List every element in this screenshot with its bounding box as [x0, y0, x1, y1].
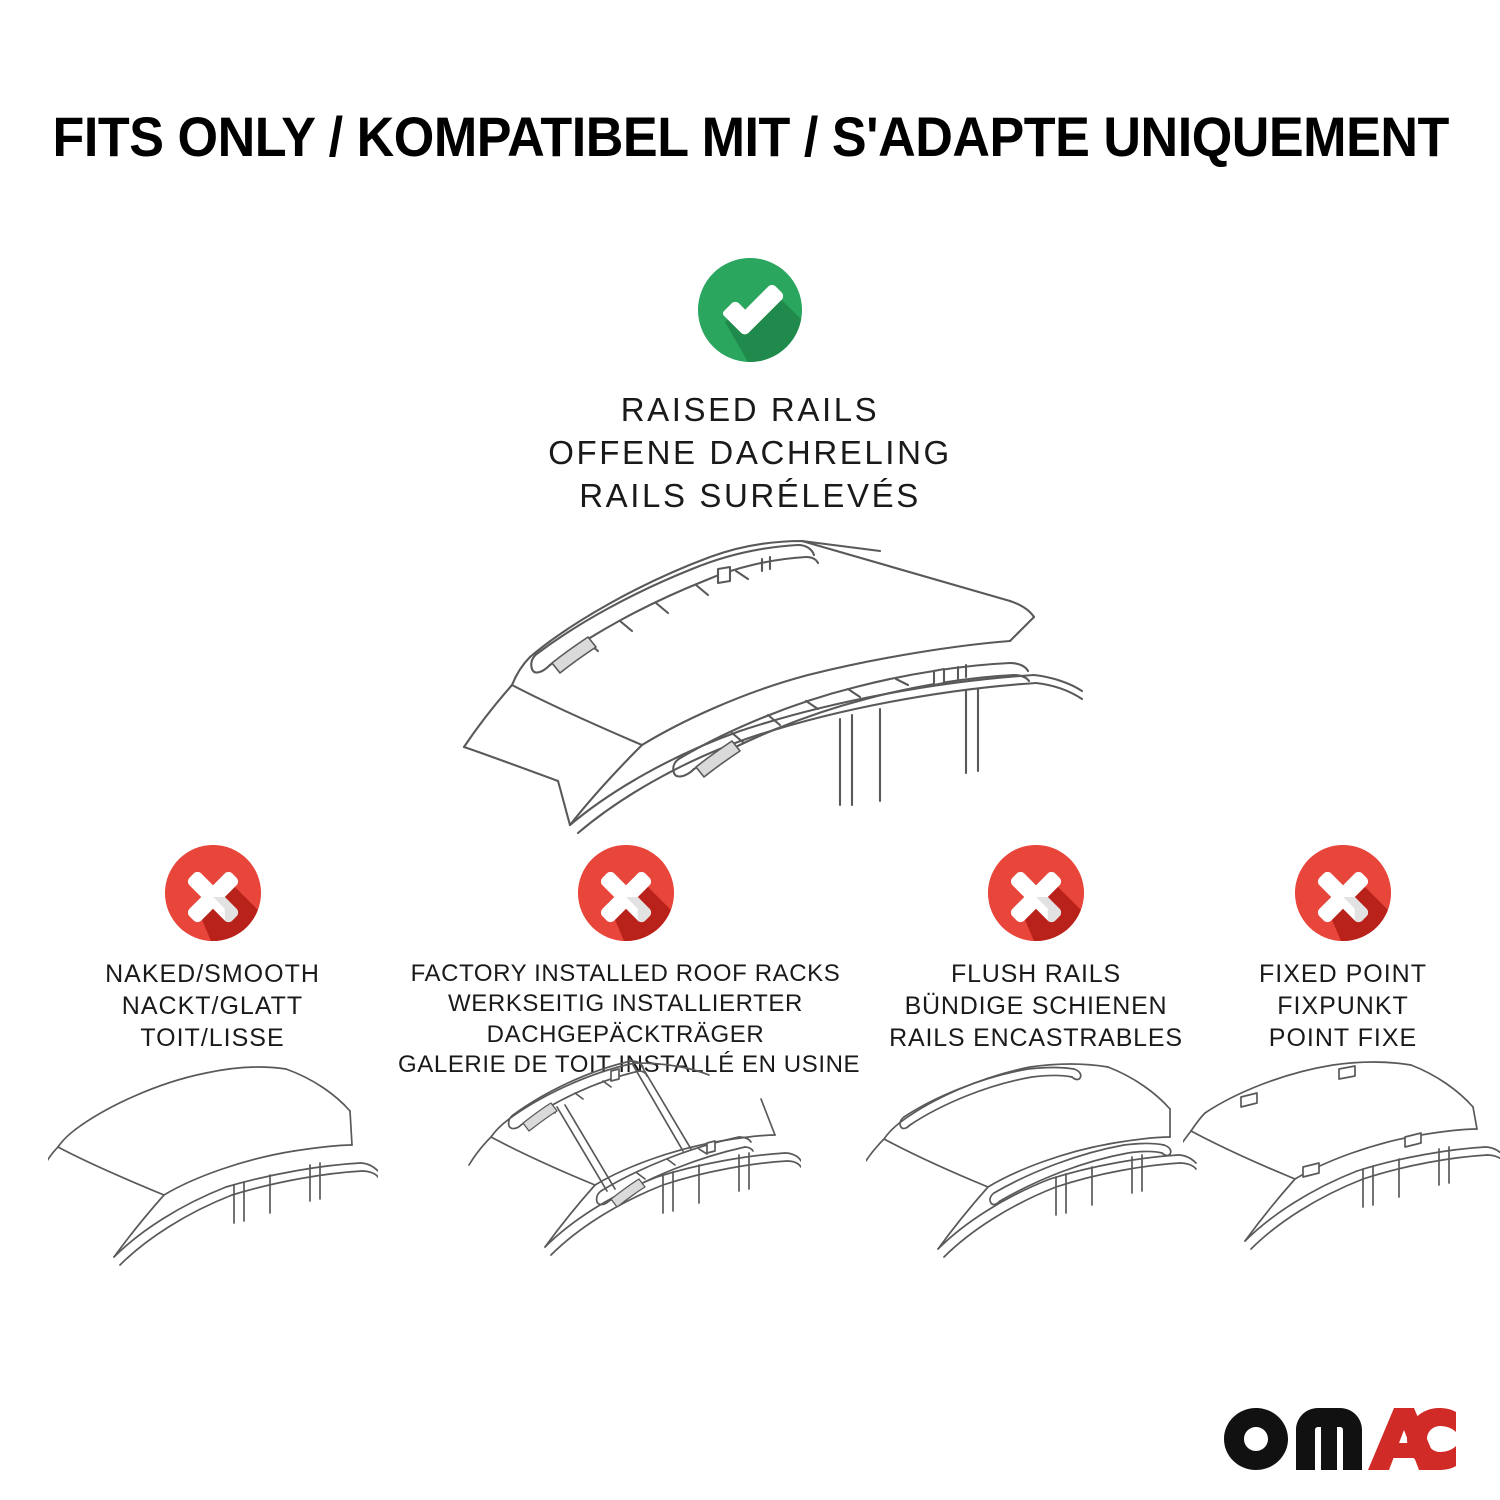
car-roof-naked-smooth-drawing [48, 1055, 378, 1275]
incompatible-label-en: FACTORY INSTALLED ROOF RACKS [398, 959, 853, 989]
incompatible-label-de: BÜNDIGE SCHIENEN [862, 991, 1210, 1023]
cross-circle-glyph [578, 845, 674, 941]
cross-circle-icon [578, 845, 674, 941]
incompatible-item-naked-smooth: NAKED/SMOOTH NACKT/GLATT TOIT/LISSE [40, 845, 385, 1054]
car-roof-factory-roof-racks-illustration [451, 1041, 801, 1281]
cross-circle-glyph [988, 845, 1084, 941]
incompatible-item-fixed-point: FIXED POINT FIXPUNKT POINT FIXE [1218, 845, 1468, 1054]
incompatible-label-en: FIXED POINT [1218, 959, 1468, 991]
car-roof-raised-rails-drawing [410, 505, 1100, 835]
check-circle-glyph [698, 258, 802, 362]
badge-wrap [862, 845, 1210, 945]
incompatible-labels: NAKED/SMOOTH NACKT/GLATT TOIT/LISSE [40, 959, 385, 1054]
incompatible-item-flush-rails: FLUSH RAILS BÜNDIGE SCHIENEN RAILS ENCAS… [862, 845, 1210, 1054]
badge-wrap [1218, 845, 1468, 945]
car-roof-naked-smooth-illustration [48, 1055, 378, 1280]
cross-circle-icon [988, 845, 1084, 941]
check-circle-icon [698, 258, 802, 362]
incompatible-section: NAKED/SMOOTH NACKT/GLATT TOIT/LISSE [0, 845, 1500, 1485]
page-title: FITS ONLY / KOMPATIBEL MIT / S'ADAPTE UN… [0, 104, 1500, 169]
incompatible-label-fr: TOIT/LISSE [40, 1023, 385, 1055]
omac-logo-letter-m [1296, 1408, 1362, 1470]
incompatible-labels: FIXED POINT FIXPUNKT POINT FIXE [1218, 959, 1468, 1054]
incompatible-label-de: FIXPUNKT [1218, 991, 1468, 1023]
omac-logo-mark [1224, 1408, 1456, 1470]
incompatible-label-de: NACKT/GLATT [40, 991, 385, 1023]
incompatible-label-en: NAKED/SMOOTH [40, 959, 385, 991]
badge-wrap [40, 845, 385, 945]
cross-circle-icon [165, 845, 261, 941]
omac-logo [1224, 1408, 1456, 1470]
page-title-text: FITS ONLY / KOMPATIBEL MIT / S'ADAPTE UN… [53, 104, 1449, 169]
car-roof-flush-rails-drawing [866, 1051, 1206, 1276]
incompatible-label-fr: POINT FIXE [1218, 1023, 1468, 1055]
compatible-section: RAISED RAILS OFFENE DACHRELING RAILS SUR… [0, 258, 1500, 518]
badge-wrap [398, 845, 853, 945]
compatible-label-de: OFFENE DACHRELING [0, 432, 1500, 475]
compatible-labels: RAISED RAILS OFFENE DACHRELING RAILS SUR… [0, 389, 1500, 518]
cross-circle-glyph [1295, 845, 1391, 941]
incompatible-item-factory-roof-racks: FACTORY INSTALLED ROOF RACKS WERKSEITIG … [398, 845, 853, 1081]
compatible-label-en: RAISED RAILS [0, 389, 1500, 432]
car-roof-flush-rails-illustration [866, 1051, 1206, 1281]
incompatible-label-de-1: WERKSEITIG INSTALLIERTER [398, 989, 853, 1019]
omac-logo-letter-o [1224, 1408, 1288, 1470]
cross-circle-icon [1295, 845, 1391, 941]
incompatible-label-en: FLUSH RAILS [862, 959, 1210, 991]
car-roof-factory-roof-racks-drawing [451, 1041, 801, 1276]
car-roof-raised-rails-illustration [410, 505, 1100, 835]
incompatible-labels: FLUSH RAILS BÜNDIGE SCHIENEN RAILS ENCAS… [862, 959, 1210, 1054]
car-roof-fixed-point-drawing [1183, 1051, 1500, 1276]
car-roof-fixed-point-illustration [1183, 1051, 1500, 1281]
incompatible-label-fr: RAILS ENCASTRABLES [862, 1023, 1210, 1055]
cross-circle-glyph [165, 845, 261, 941]
